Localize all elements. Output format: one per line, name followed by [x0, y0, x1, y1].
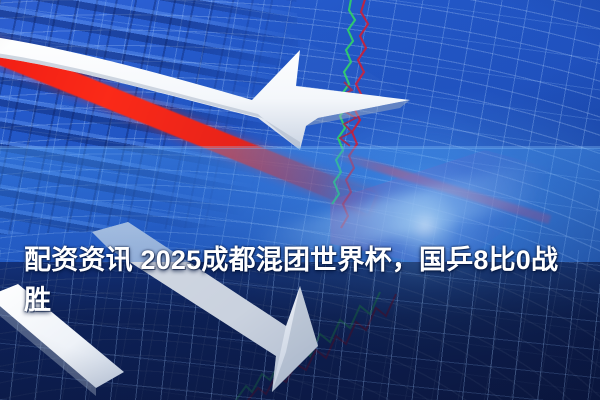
headline-text: 配资资讯 2025成都混团世界杯，国乒8比0战胜 智利队: [24, 160, 584, 400]
headline-line-1: 配资资讯 2025成都混团世界杯，国乒8比0战胜: [24, 240, 584, 320]
news-thumbnail-image: 配资资讯 2025成都混团世界杯，国乒8比0战胜 智利队: [0, 0, 600, 400]
